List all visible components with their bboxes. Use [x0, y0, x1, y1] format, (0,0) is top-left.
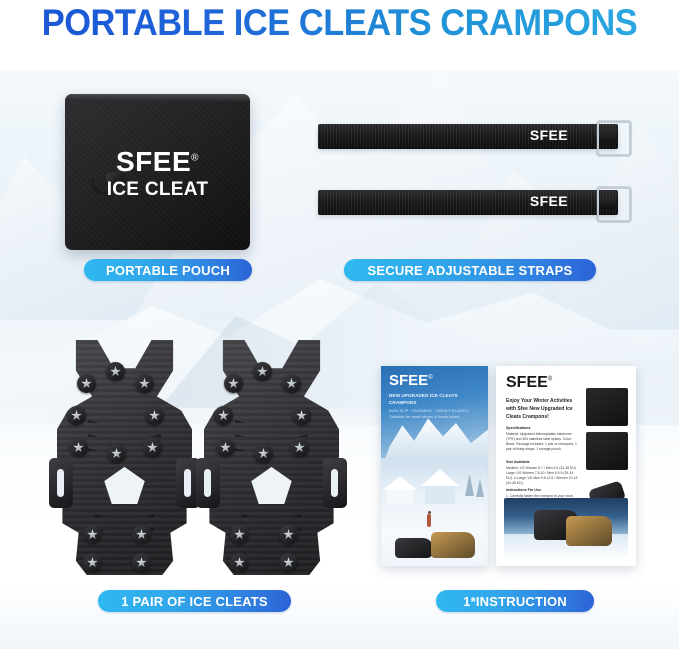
- house-roof-right: [421, 469, 459, 486]
- cleat-stud: [214, 406, 233, 425]
- instruction-front-headline: NEW UPGRADED ICE CLEATS CRAMPONS: [389, 392, 481, 406]
- walker-head: [428, 511, 431, 514]
- instruction-front-brand-name: SFEE: [389, 372, 428, 389]
- instruction-front-registered-mark: ®: [428, 375, 432, 381]
- cleat-side-strap-right-b: [323, 458, 347, 508]
- strap-brand-text-2: SFEE: [530, 193, 568, 209]
- ice-cleat-right: [204, 340, 339, 575]
- ice-cleat-left: [57, 340, 192, 575]
- pouch-zipper-line: [65, 94, 250, 101]
- instruction-back-brand-name: SFEE: [506, 374, 548, 391]
- instruction-sheet-back: SFEE® Enjoy Your Winter Activities with …: [496, 366, 636, 566]
- cleat-stud: [83, 525, 102, 544]
- page-title: PORTABLE ICE CLEATS CRAMPONS: [24, 2, 655, 44]
- cleat-slot: [331, 469, 338, 497]
- cleat-stud: [224, 374, 243, 393]
- house-right: [425, 484, 455, 504]
- label-secure-adjustable-straps: SECURE ADJUSTABLE STRAPS: [344, 259, 596, 281]
- cleat-stud: [279, 553, 298, 572]
- instruction-section-1: Specifications Material: Upgraded thermo…: [506, 426, 580, 453]
- cleat-stud: [132, 525, 151, 544]
- cleat-stud: [83, 553, 102, 572]
- strap-buckle-2: [597, 187, 631, 222]
- instruction-front-subline: NON SLIP · DURABLE · HIGHLY ELASTIC Suit…: [389, 408, 481, 420]
- strap-brand-text-1: SFEE: [530, 127, 568, 143]
- cleat-slot: [204, 469, 211, 497]
- cleat-stud: [69, 438, 88, 457]
- label-one-instruction: 1*INSTRUCTION: [436, 590, 594, 612]
- cleat-stud: [77, 374, 96, 393]
- cleat-stud: [282, 374, 301, 393]
- tree-1: [465, 474, 474, 496]
- cleat-stud: [216, 438, 235, 457]
- cleat-stud: [106, 362, 125, 381]
- instruction-back-brand: SFEE®: [506, 374, 552, 392]
- cleat-stud: [230, 553, 249, 572]
- photo-boot-right: [566, 516, 612, 546]
- cleat-stud: [145, 406, 164, 425]
- portable-pouch-image: SFEE® ICE CLEAT: [65, 94, 250, 250]
- adjustable-strap-1: SFEE: [318, 124, 618, 149]
- cleat-stud: [107, 444, 126, 463]
- label-one-pair-of-ice-cleats: 1 PAIR OF ICE CLEATS: [98, 590, 291, 612]
- instruction-thumbnail-2: [586, 432, 628, 470]
- pouch-brand-name: SFEE: [116, 146, 191, 177]
- instruction-back-photo: [504, 498, 628, 560]
- instruction-thumbnail-1: [586, 388, 628, 426]
- pouch-brand-text: SFEE®: [65, 146, 250, 178]
- instruction-back-registered-mark: ®: [548, 377, 552, 383]
- cleat-stud: [290, 438, 309, 457]
- instruction-back-lead: Enjoy Your Winter Activities with Sfee N…: [506, 397, 578, 421]
- instruction-section-1-body: Material: Upgraded thermoplastic elastom…: [506, 432, 580, 453]
- adjustable-strap-2: SFEE: [318, 190, 618, 215]
- cleat-stud: [132, 553, 151, 572]
- walker-figure: [427, 514, 431, 527]
- instruction-front-brand: SFEE®: [389, 372, 433, 389]
- instruction-sheet-front: SFEE® NEW UPGRADED ICE CLEATS CRAMPONS N…: [381, 366, 488, 566]
- boot-right-photo: [431, 532, 475, 558]
- product-infographic: PORTABLE ICE CLEATS CRAMPONS SFEE® ICE C…: [0, 0, 679, 649]
- pouch-subtitle-text: ICE CLEAT: [65, 179, 250, 201]
- cleat-slot: [57, 469, 64, 497]
- label-portable-pouch: PORTABLE POUCH: [84, 259, 252, 281]
- cleat-stud: [279, 525, 298, 544]
- cleat-stud: [135, 374, 154, 393]
- instruction-section-2: Size Available Medium: US Women 5-7 / Me…: [506, 460, 580, 487]
- cleat-side-strap-left-a: [49, 458, 73, 508]
- boot-left-photo: [395, 538, 433, 558]
- tree-2: [476, 479, 484, 497]
- cleat-side-strap-right-a: [196, 458, 220, 508]
- cleat-slot: [184, 469, 191, 497]
- cleat-stud: [253, 362, 272, 381]
- house-left: [387, 488, 413, 505]
- instruction-section-2-body: Medium: US Women 5-7 / Men 4-6 (34-38 EU…: [506, 466, 580, 487]
- pouch-registered-mark: ®: [191, 153, 199, 164]
- cleat-stud: [230, 525, 249, 544]
- strap-buckle-1: [597, 121, 631, 156]
- instruction-front-scene: [381, 458, 488, 566]
- cleat-stud: [292, 406, 311, 425]
- cleat-stud: [254, 444, 273, 463]
- house-roof-left: [383, 476, 417, 490]
- cleat-stud: [67, 406, 86, 425]
- cleat-stud: [143, 438, 162, 457]
